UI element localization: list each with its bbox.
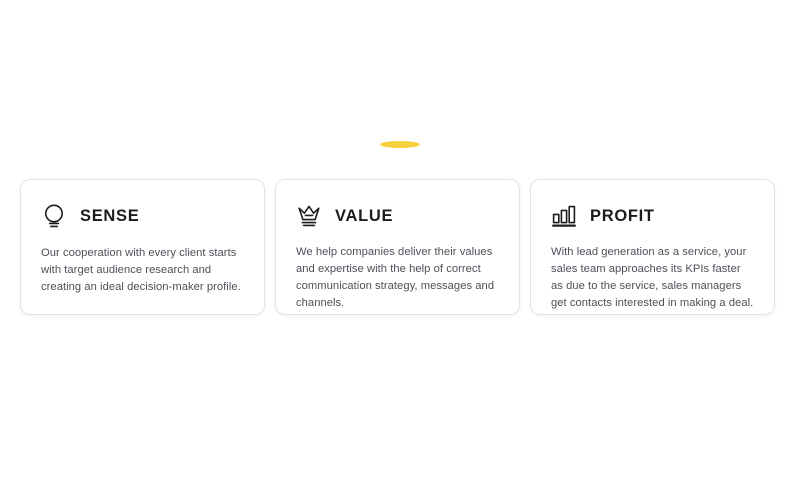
lightbulb-icon (41, 202, 67, 230)
feature-card-sense[interactable]: SENSE Our cooperation with every client … (20, 179, 265, 315)
card-description: Our cooperation with every client starts… (41, 245, 244, 296)
bar-chart-icon (551, 202, 577, 230)
yellow-lens-icon (380, 141, 420, 148)
card-title: SENSE (80, 208, 139, 225)
card-header: SENSE (41, 202, 244, 231)
feature-card-value[interactable]: VALUE We help companies deliver their va… (275, 179, 520, 315)
crown-icon (296, 202, 322, 230)
feature-card-profit[interactable]: PROFIT With lead generation as a service… (530, 179, 775, 315)
card-header: VALUE (296, 202, 499, 230)
page-root: SENSE Our cooperation with every client … (0, 0, 800, 480)
feature-cards-row: SENSE Our cooperation with every client … (20, 179, 775, 315)
card-title: PROFIT (590, 208, 655, 225)
accent-divider (0, 139, 800, 149)
card-description: With lead generation as a service, your … (551, 244, 754, 312)
card-title: VALUE (335, 208, 393, 225)
card-header: PROFIT (551, 202, 754, 230)
card-description: We help companies deliver their values a… (296, 244, 499, 312)
